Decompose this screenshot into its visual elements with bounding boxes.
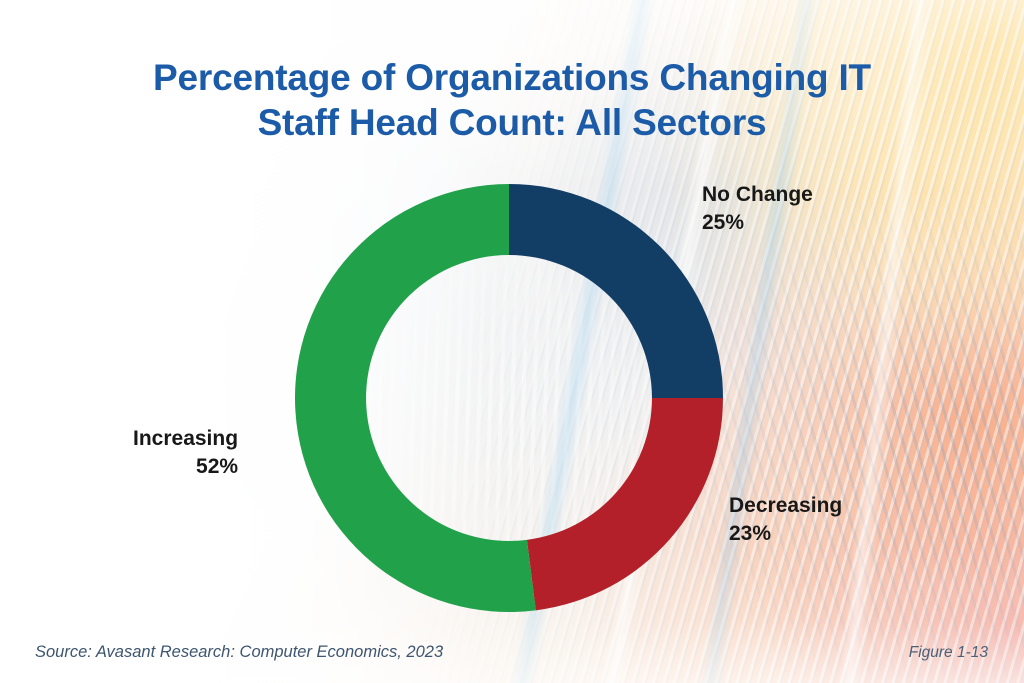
callout-decreasing: Decreasing 23%: [729, 492, 842, 548]
slide-canvas: Percentage of Organizations Changing IT …: [0, 0, 1024, 683]
figure-number: Figure 1-13: [909, 644, 988, 662]
donut-slice-increasing: [295, 184, 536, 612]
donut-chart-svg: [295, 184, 723, 612]
callout-increasing-label: Increasing: [133, 427, 238, 450]
donut-chart: [295, 184, 723, 612]
chart-title-line-1: Percentage of Organizations Changing IT: [0, 55, 1024, 100]
chart-title: Percentage of Organizations Changing IT …: [0, 55, 1024, 145]
callout-decreasing-value: 23%: [729, 520, 842, 548]
callout-increasing-value: 52%: [133, 453, 238, 481]
callout-no-change-value: 25%: [702, 209, 813, 237]
donut-slice-no-change: [509, 184, 723, 398]
callout-no-change-label: No Change: [702, 183, 813, 206]
chart-title-line-2: Staff Head Count: All Sectors: [0, 100, 1024, 145]
callout-no-change: No Change 25%: [702, 181, 813, 237]
source-note: Source: Avasant Research: Computer Econo…: [35, 643, 443, 662]
callout-increasing: Increasing 52%: [133, 425, 238, 481]
donut-slice-group: [295, 184, 723, 612]
donut-slice-decreasing: [527, 398, 723, 610]
callout-decreasing-label: Decreasing: [729, 494, 842, 517]
